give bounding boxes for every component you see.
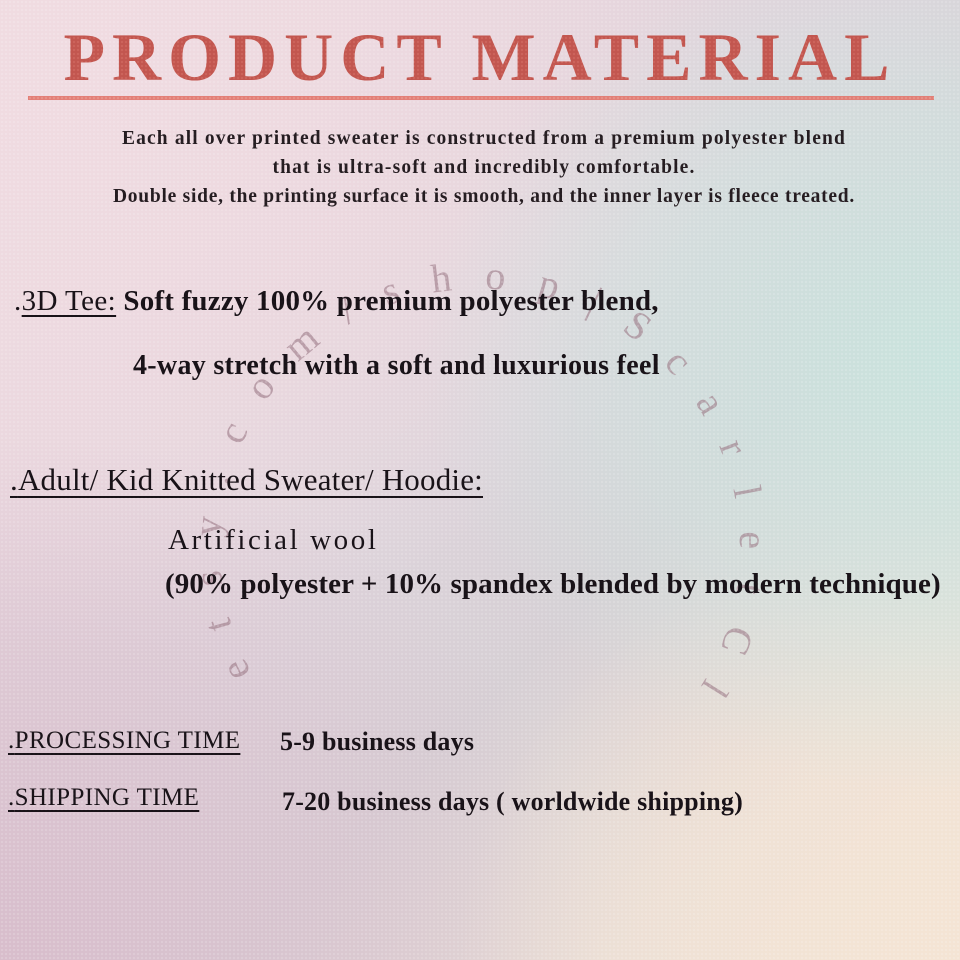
processing-time-value: 5-9 business days (280, 727, 474, 757)
bullet-dot-sweater: . (10, 462, 18, 497)
processing-time-label-text: .PROCESSING TIME (8, 727, 240, 754)
section-3d-tee-body: Soft fuzzy 100% premium polyester blend, (123, 285, 658, 317)
processing-time-label: .PROCESSING TIME (8, 727, 240, 755)
intro-line-1: Each all over printed sweater is constru… (24, 124, 944, 153)
processing-time-label-value: PROCESSING TIME (15, 727, 241, 754)
section-3d-tee-heading: .3D Tee: (14, 285, 116, 317)
section-sweater-detail-2: (90% polyester + 10% spandex blended by … (165, 568, 941, 601)
title-underline-rule (28, 96, 934, 100)
section-sweater-heading-text: .Adult/ Kid Knitted Sweater/ Hoodie: (10, 462, 483, 497)
section-3d-tee-heading-text: 3D Tee: (22, 285, 116, 317)
bullet-dot-tee: . (14, 285, 22, 317)
product-material-poster: e t s y . c o m / s h o p | S c a r l e … (0, 0, 960, 960)
shipping-time-label: .SHIPPING TIME (8, 784, 199, 812)
intro-line-3: Double side, the printing surface it is … (24, 182, 944, 211)
bullet-dot-processing: . (8, 727, 15, 754)
watermark-text: e t s y . c o m / s h o p | S c a r l e … (165, 186, 776, 715)
section-sweater-heading: .Adult/ Kid Knitted Sweater/ Hoodie: (10, 462, 483, 498)
shipping-time-value: 7-20 business days ( worldwide shipping) (282, 787, 743, 817)
intro-paragraph: Each all over printed sweater is constru… (24, 124, 944, 211)
section-3d-tee: .3D Tee: Soft fuzzy 100% premium polyest… (14, 284, 659, 318)
section-sweater-heading-label: Adult/ Kid Knitted Sweater/ Hoodie: (18, 462, 483, 497)
section-3d-tee-sub: 4-way stretch with a soft and luxurious … (133, 350, 660, 382)
section-sweater-detail-1: Artificial wool (168, 524, 379, 557)
page-title-block: PRODUCT MATERIAL (0, 22, 960, 97)
intro-line-2: that is ultra-soft and incredibly comfor… (24, 153, 944, 182)
shipping-time-label-text: .SHIPPING TIME (8, 784, 199, 811)
shipping-time-label-value: SHIPPING TIME (15, 784, 200, 811)
watermark-textpath: e t s y . c o m / s h o p | S c a r l e … (165, 186, 776, 715)
bullet-dot-shipping: . (8, 784, 15, 811)
page-title: PRODUCT MATERIAL (60, 22, 901, 97)
